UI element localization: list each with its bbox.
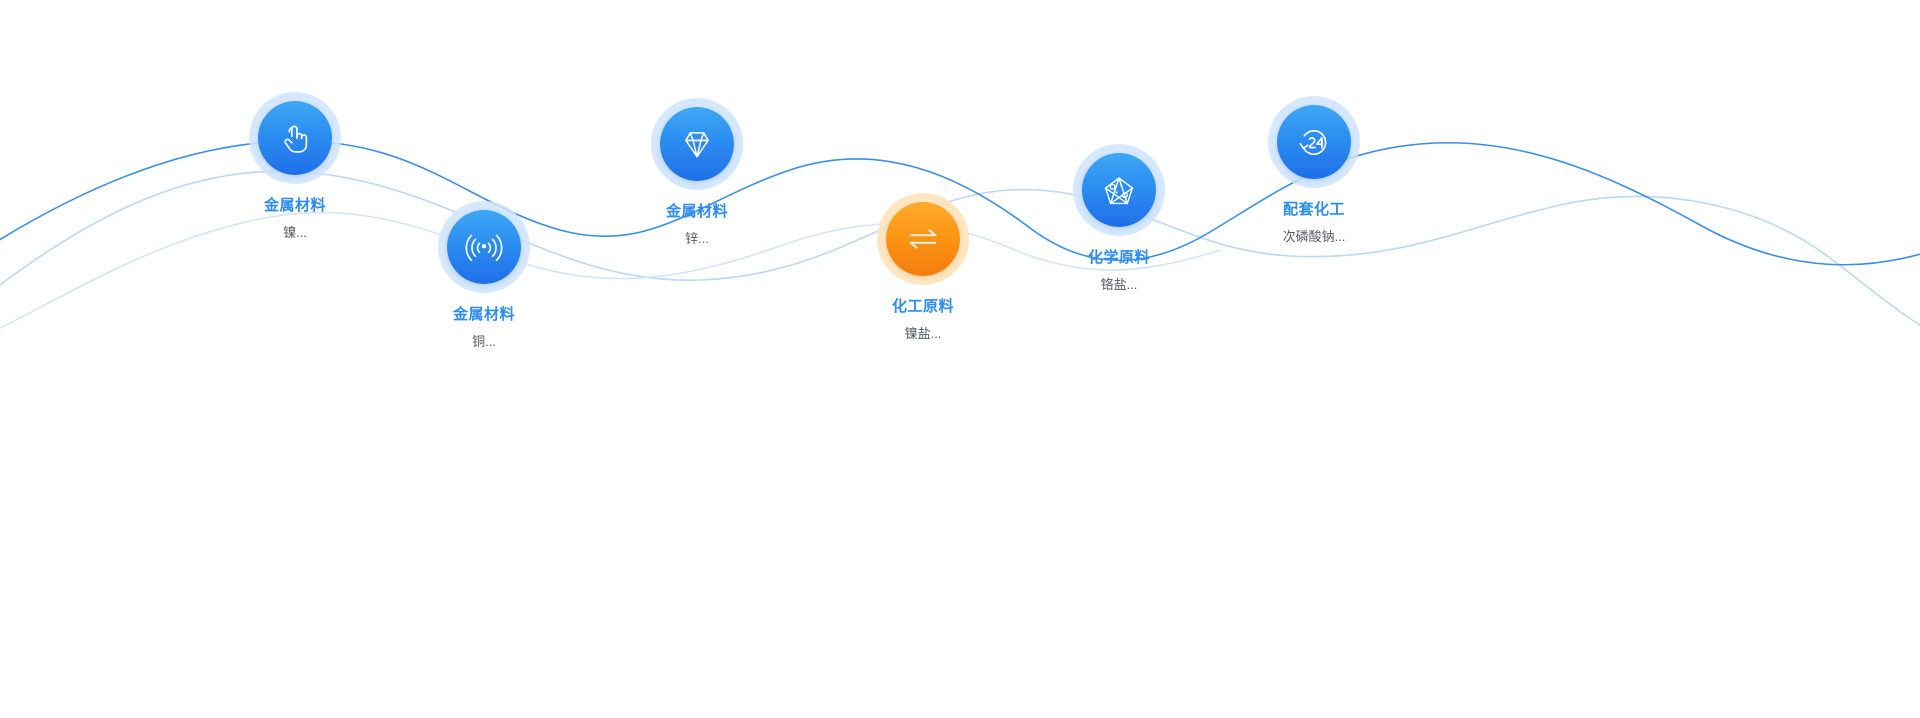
node-title: 化学原料 [1019,248,1219,268]
node-subtitle: 镍盐... [823,325,1023,343]
node-disc [886,202,960,276]
node-subtitle: 镍... [195,224,395,242]
wave-map-canvas: 金属材料 镍... 金属材料 铜 [0,0,1920,718]
node-circle[interactable] [249,92,341,184]
node-subtitle: 锌... [597,230,797,248]
node-disc [258,101,332,175]
reversible-reaction-icon [903,219,943,259]
node-disc [447,210,521,284]
molecule-pentagon-icon [1100,171,1138,209]
node-disc [1082,153,1156,227]
node-title: 金属材料 [597,202,797,222]
node-subtitle: 铜... [384,333,584,351]
node-subtitle: 次磷酸钠... [1214,228,1414,246]
node-chem-nickel-salt[interactable]: 化工原料 镍盐... [823,193,1023,343]
node-title: 化工原料 [823,297,1023,317]
node-circle[interactable] [1268,96,1360,188]
node-metal-zinc[interactable]: 金属材料 锌... [597,98,797,248]
radar-signal-icon [464,227,504,267]
node-circle[interactable] [438,201,530,293]
node-disc [1277,105,1351,179]
node-circle[interactable] [1073,144,1165,236]
node-disc [660,107,734,181]
node-metal-nickel[interactable]: 金属材料 镍... [195,92,395,242]
node-circle[interactable] [877,193,969,285]
diamond-icon [678,125,716,163]
node-title: 配套化工 [1214,200,1414,220]
node-title: 金属材料 [195,196,395,216]
twentyfour-hour-icon [1294,122,1334,162]
node-subtitle: 铬盐... [1019,276,1219,294]
node-chem-chrome-salt[interactable]: 化学原料 铬盐... [1019,144,1219,294]
node-title: 金属材料 [384,305,584,325]
node-chem-support[interactable]: 配套化工 次磷酸钠... [1214,96,1414,246]
node-circle[interactable] [651,98,743,190]
node-metal-copper[interactable]: 金属材料 铜... [384,201,584,351]
click-hand-icon [276,119,314,157]
